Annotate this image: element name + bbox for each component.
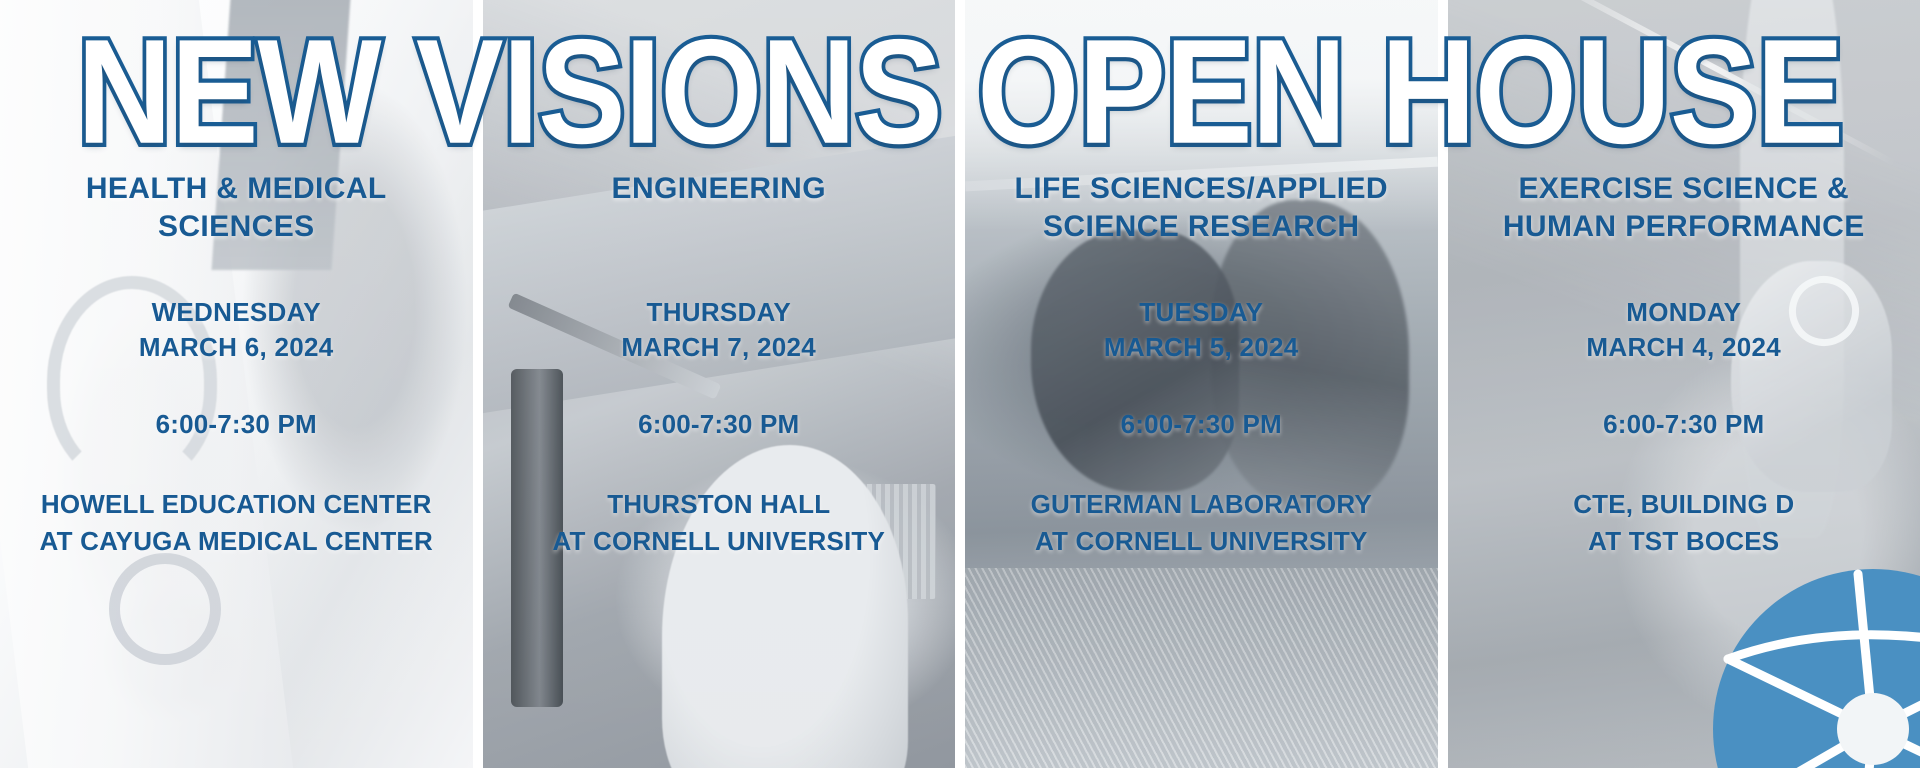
event-venue-block: THURSTON HALL AT CORNELL UNIVERSITY [495, 486, 944, 560]
event-time: 6:00-7:30 PM [1460, 409, 1909, 440]
venue-line-2: AT CAYUGA MEDICAL CENTER [12, 523, 461, 560]
department-line-1: LIFE SCIENCES/APPLIED [977, 170, 1426, 208]
event-venue-block: HOWELL EDUCATION CENTER AT CAYUGA MEDICA… [12, 486, 461, 560]
department-line-1: ENGINEERING [495, 170, 944, 208]
department-line-1: EXERCISE SCIENCE & [1460, 170, 1909, 208]
event-day: WEDNESDAY [12, 295, 461, 330]
event-time: 6:00-7:30 PM [12, 409, 461, 440]
panel-exercise-science-human-performance: EXERCISE SCIENCE & HUMAN PERFORMANCE MON… [1448, 0, 1920, 768]
event-time: 6:00-7:30 PM [495, 409, 944, 440]
panel-health-medical-sciences: HEALTH & MEDICAL SCIENCES WEDNESDAY MARC… [0, 0, 473, 768]
event-venue-block: GUTERMAN LABORATORY AT CORNELL UNIVERSIT… [977, 486, 1426, 560]
venue-line-1: CTE, BUILDING D [1460, 486, 1909, 523]
panel-life-sciences-applied-science-research: LIFE SCIENCES/APPLIED SCIENCE RESEARCH T… [965, 0, 1438, 768]
event-date: MARCH 5, 2024 [977, 330, 1426, 365]
event-day: TUESDAY [977, 295, 1426, 330]
panel-engineering: ENGINEERING THURSDAY MARCH 7, 2024 6:00-… [483, 0, 956, 768]
event-time: 6:00-7:30 PM [977, 409, 1426, 440]
event-day: THURSDAY [495, 295, 944, 330]
venue-line-1: GUTERMAN LABORATORY [977, 486, 1426, 523]
event-venue-block: CTE, BUILDING D AT TST BOCES [1460, 486, 1909, 560]
event-date: MARCH 6, 2024 [12, 330, 461, 365]
venue-line-1: THURSTON HALL [495, 486, 944, 523]
venue-line-2: AT CORNELL UNIVERSITY [977, 523, 1426, 560]
venue-line-1: HOWELL EDUCATION CENTER [12, 486, 461, 523]
department-line-2: SCIENCES [12, 208, 461, 246]
panel-text-block: LIFE SCIENCES/APPLIED SCIENCE RESEARCH T… [965, 170, 1438, 560]
event-date: MARCH 7, 2024 [495, 330, 944, 365]
open-house-banner: HEALTH & MEDICAL SCIENCES WEDNESDAY MARC… [0, 0, 1920, 768]
panel-text-block: HEALTH & MEDICAL SCIENCES WEDNESDAY MARC… [0, 170, 473, 560]
panel-text-block: EXERCISE SCIENCE & HUMAN PERFORMANCE MON… [1448, 170, 1920, 560]
department-title: HEALTH & MEDICAL SCIENCES [12, 170, 461, 247]
venue-line-2: AT TST BOCES [1460, 523, 1909, 560]
department-line-1: HEALTH & MEDICAL [12, 170, 461, 208]
panel-text-block: ENGINEERING THURSDAY MARCH 7, 2024 6:00-… [483, 170, 956, 560]
department-title: EXERCISE SCIENCE & HUMAN PERFORMANCE [1460, 170, 1909, 247]
event-day: MONDAY [1460, 295, 1909, 330]
event-date-block: THURSDAY MARCH 7, 2024 [495, 295, 944, 365]
event-date-block: TUESDAY MARCH 5, 2024 [977, 295, 1426, 365]
department-line-2: HUMAN PERFORMANCE [1460, 208, 1909, 246]
department-title: ENGINEERING [495, 170, 944, 247]
department-line-2: SCIENCE RESEARCH [977, 208, 1426, 246]
panel-strip: HEALTH & MEDICAL SCIENCES WEDNESDAY MARC… [0, 0, 1920, 768]
department-title: LIFE SCIENCES/APPLIED SCIENCE RESEARCH [977, 170, 1426, 247]
event-date: MARCH 4, 2024 [1460, 330, 1909, 365]
event-date-block: WEDNESDAY MARCH 6, 2024 [12, 295, 461, 365]
venue-line-2: AT CORNELL UNIVERSITY [495, 523, 944, 560]
event-date-block: MONDAY MARCH 4, 2024 [1460, 295, 1909, 365]
